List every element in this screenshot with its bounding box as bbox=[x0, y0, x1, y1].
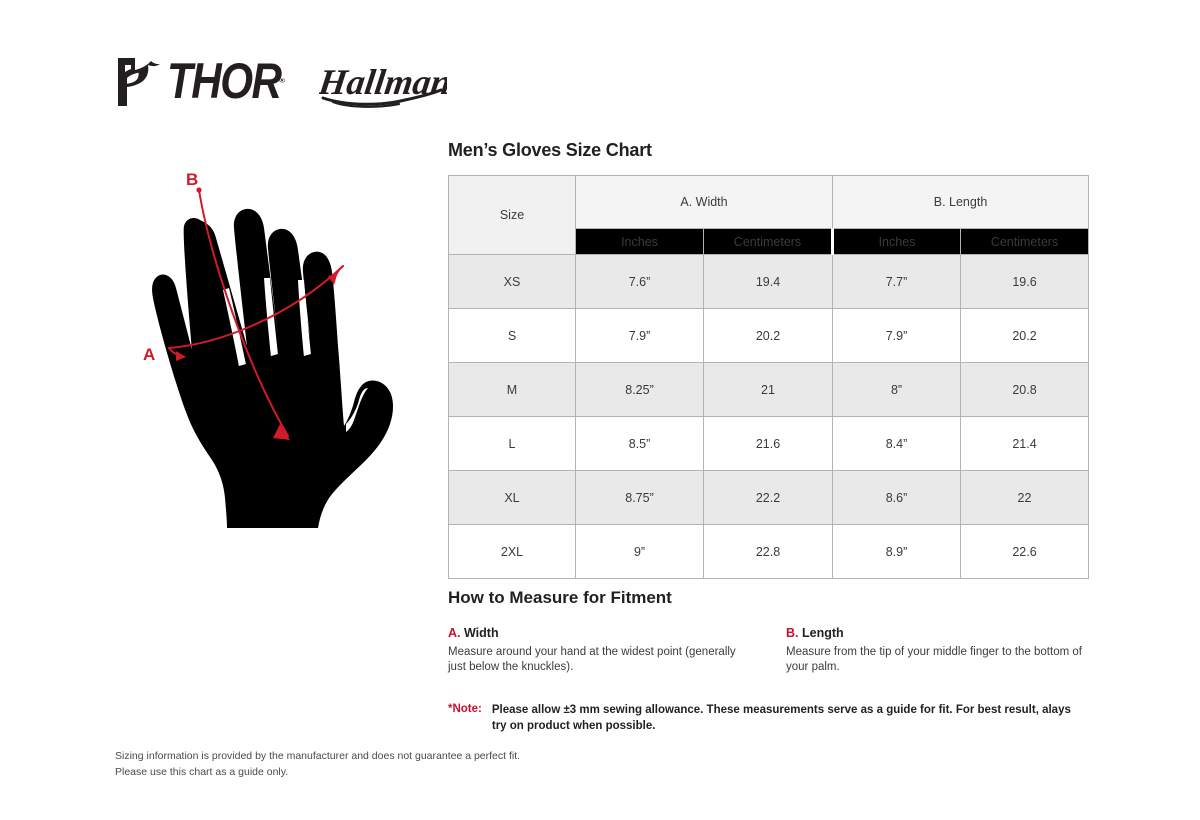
header-width-inches: Inches bbox=[576, 229, 704, 255]
header-width-centimeters: Centimeters bbox=[704, 229, 833, 255]
measure-length-name: Length bbox=[802, 626, 844, 640]
page-title: Men’s Gloves Size Chart bbox=[448, 140, 652, 161]
diagram-label-b: B bbox=[186, 170, 198, 189]
table-row: S 7.9” 20.2 7.9” 20.2 bbox=[449, 309, 1089, 363]
cell-width-centimeters: 21 bbox=[704, 363, 833, 417]
cell-length-inches: 8” bbox=[833, 363, 961, 417]
cell-width-inches: 8.5” bbox=[576, 417, 704, 471]
table-row: XL 8.75” 22.2 8.6” 22 bbox=[449, 471, 1089, 525]
table-row: 2XL 9” 22.8 8.9” 22.6 bbox=[449, 525, 1089, 579]
footer-line-1: Sizing information is provided by the ma… bbox=[115, 748, 520, 764]
note-row: *Note: Please allow ±3 mm sewing allowan… bbox=[448, 703, 1088, 734]
measure-length-block: B. Length Measure from the tip of your m… bbox=[786, 625, 1091, 675]
footer-disclaimer: Sizing information is provided by the ma… bbox=[115, 748, 520, 781]
cell-size: XL bbox=[449, 471, 576, 525]
hand-measurement-diagram: B A bbox=[128, 168, 428, 533]
cell-width-inches: 8.25” bbox=[576, 363, 704, 417]
measure-width-heading: A. Width bbox=[448, 625, 753, 642]
cell-length-inches: 7.7” bbox=[833, 255, 961, 309]
cell-size: XS bbox=[449, 255, 576, 309]
table-row: L 8.5” 21.6 8.4” 21.4 bbox=[449, 417, 1089, 471]
measure-length-letter: B. bbox=[786, 626, 799, 640]
cell-width-inches: 7.6” bbox=[576, 255, 704, 309]
thor-logo: THOR ® bbox=[115, 56, 285, 108]
hand-silhouette bbox=[152, 209, 393, 528]
brand-logo-bar: THOR ® Hallman bbox=[115, 52, 447, 112]
measure-width-letter: A. bbox=[448, 626, 461, 640]
measure-length-heading: B. Length bbox=[786, 625, 1091, 642]
hallman-wordmark: Hallman bbox=[319, 62, 447, 102]
cell-width-inches: 8.75” bbox=[576, 471, 704, 525]
cell-length-inches: 8.4” bbox=[833, 417, 961, 471]
hallman-logo: Hallman bbox=[319, 54, 447, 110]
registered-trademark-icon: ® bbox=[279, 78, 285, 85]
table-row: M 8.25” 21 8” 20.8 bbox=[449, 363, 1089, 417]
header-size: Size bbox=[449, 176, 576, 255]
measure-length-description: Measure from the tip of your middle fing… bbox=[786, 645, 1091, 676]
cell-width-inches: 9” bbox=[576, 525, 704, 579]
cell-size: S bbox=[449, 309, 576, 363]
cell-size: 2XL bbox=[449, 525, 576, 579]
measure-width-description: Measure around your hand at the widest p… bbox=[448, 645, 753, 676]
cell-length-inches: 8.9” bbox=[833, 525, 961, 579]
table-row: XS 7.6” 19.4 7.7” 19.6 bbox=[449, 255, 1089, 309]
howto-title: How to Measure for Fitment bbox=[448, 588, 672, 608]
measure-width-name: Width bbox=[464, 626, 499, 640]
cell-width-centimeters: 21.6 bbox=[704, 417, 833, 471]
footer-line-2: Please use this chart as a guide only. bbox=[115, 764, 520, 780]
cell-size: M bbox=[449, 363, 576, 417]
header-length-inches: Inches bbox=[833, 229, 961, 255]
cell-length-centimeters: 22.6 bbox=[961, 525, 1089, 579]
cell-length-centimeters: 21.4 bbox=[961, 417, 1089, 471]
cell-length-centimeters: 19.6 bbox=[961, 255, 1089, 309]
cell-length-inches: 7.9” bbox=[833, 309, 961, 363]
diagram-label-a: A bbox=[143, 345, 155, 364]
note-label: *Note: bbox=[448, 703, 482, 734]
cell-size: L bbox=[449, 417, 576, 471]
cell-length-centimeters: 22 bbox=[961, 471, 1089, 525]
note-text: Please allow ±3 mm sewing allowance. The… bbox=[492, 703, 1088, 734]
table-header-groups: Size A. Width B. Length bbox=[449, 176, 1089, 229]
cell-width-centimeters: 19.4 bbox=[704, 255, 833, 309]
cell-length-centimeters: 20.2 bbox=[961, 309, 1089, 363]
thor-wordmark: THOR bbox=[167, 56, 280, 106]
header-group-length: B. Length bbox=[833, 176, 1089, 229]
cell-width-centimeters: 20.2 bbox=[704, 309, 833, 363]
cell-width-centimeters: 22.8 bbox=[704, 525, 833, 579]
cell-width-inches: 7.9” bbox=[576, 309, 704, 363]
measure-width-block: A. Width Measure around your hand at the… bbox=[448, 625, 753, 675]
cell-length-centimeters: 20.8 bbox=[961, 363, 1089, 417]
size-chart-table: Size A. Width B. Length Inches Centimete… bbox=[448, 175, 1089, 579]
cell-length-inches: 8.6” bbox=[833, 471, 961, 525]
cell-width-centimeters: 22.2 bbox=[704, 471, 833, 525]
header-group-width: A. Width bbox=[576, 176, 833, 229]
header-length-centimeters: Centimeters bbox=[961, 229, 1089, 255]
thor-helmet-icon bbox=[115, 56, 165, 108]
